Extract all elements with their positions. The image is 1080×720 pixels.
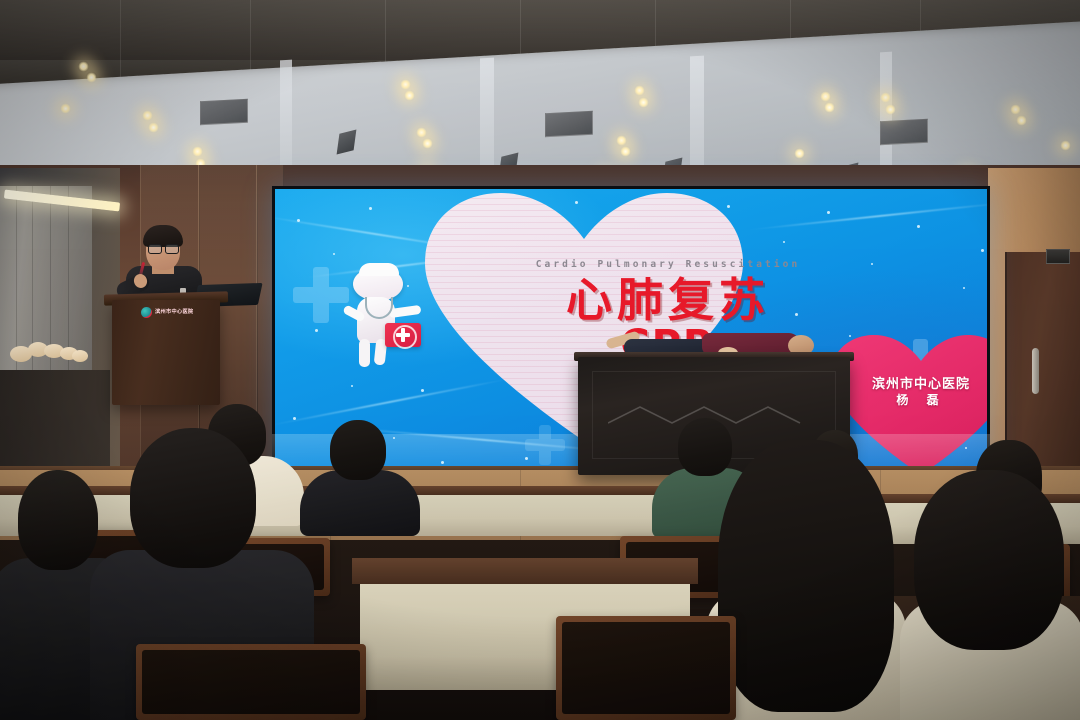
front-desk-edge (352, 558, 698, 584)
auditorium-chair[interactable] (136, 644, 366, 720)
hospital-logo: 滨州市中心医院 (141, 306, 203, 319)
doctor-mascot-icon (339, 261, 421, 371)
side-table (0, 370, 110, 466)
ceiling-downlight (400, 79, 411, 90)
ceiling-air-vent (200, 99, 248, 126)
auditorium-chair[interactable] (556, 616, 736, 720)
lecture-hall-photo: Cardio Pulmonary Resuscitation 心肺复苏 CPR … (0, 0, 1080, 720)
ceiling-downlight (820, 91, 831, 102)
ceiling-downlight (885, 104, 896, 115)
ceiling-downlight (880, 92, 891, 103)
bg-swoosh (746, 201, 987, 231)
door-handle[interactable] (1032, 348, 1039, 394)
ceiling-downlight (794, 148, 805, 159)
ceiling-downlight (1060, 140, 1071, 151)
ceiling-downlight (1010, 104, 1021, 115)
ceiling-downlight (422, 138, 433, 149)
ceiling-downlight (634, 85, 645, 96)
ceiling-downlight (824, 102, 835, 113)
hospital-logo-mark (141, 307, 152, 318)
ceiling-downlight (78, 61, 89, 72)
ceiling-downlight (192, 146, 203, 157)
ceiling-downlight (148, 122, 159, 133)
ceiling-downlight (416, 127, 427, 138)
ceiling-downlight (142, 110, 153, 121)
podium-hospital-name: 滨州市中心医院 (155, 309, 193, 316)
wall-sign (1046, 249, 1070, 264)
ceiling-downlight (1016, 115, 1027, 126)
audience-member (300, 420, 420, 524)
ceiling-downlight (620, 146, 631, 157)
glasses-icon (148, 244, 178, 252)
ceiling-downlight (404, 90, 415, 101)
ceiling-downlight (638, 97, 649, 108)
presenter-name: 杨 磊 (831, 391, 987, 408)
ceiling-air-vent (545, 111, 593, 138)
english-subtitle: Cardio Pulmonary Resuscitation (528, 259, 808, 270)
ceiling-downlight (60, 103, 71, 114)
skeleton-model (10, 336, 88, 364)
ceiling-downlight (616, 135, 627, 146)
slide-title-chinese: 心肺复苏 (503, 277, 833, 323)
ceiling-downlight (86, 72, 97, 83)
ceiling-air-vent (880, 119, 928, 146)
audience-member (900, 470, 1080, 720)
organization-name: 滨州市中心医院 (831, 373, 987, 392)
